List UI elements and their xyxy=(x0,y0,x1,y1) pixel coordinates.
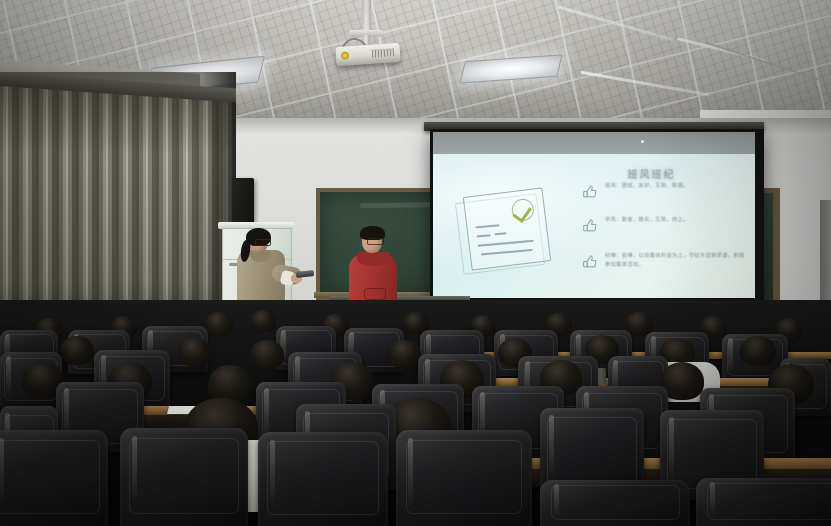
document-line xyxy=(478,240,534,247)
seat[interactable] xyxy=(696,478,831,526)
document-line xyxy=(481,249,533,256)
seat[interactable] xyxy=(120,428,248,526)
student-head xyxy=(60,336,94,365)
slide-bullet: 学风：勤奋、踏实、互助、向上。 xyxy=(581,216,689,233)
checkmark-icon xyxy=(511,198,536,223)
student-head xyxy=(740,336,776,366)
seat[interactable] xyxy=(396,430,532,526)
projector-vent xyxy=(372,48,395,58)
thumbs-up-icon xyxy=(581,182,599,199)
seat[interactable] xyxy=(540,480,690,526)
student-head xyxy=(205,312,233,336)
slide-bullet-text: 纪律：自律，以班集体利益为上，守纪不迟到早退，积极参加集体活动。 xyxy=(605,252,745,270)
slide-bullet-text: 班风：团结、友好、互助、和谐。 xyxy=(605,182,689,191)
document-line xyxy=(477,234,491,237)
glasses-icon xyxy=(367,238,384,245)
student-head xyxy=(388,340,421,368)
document-line xyxy=(475,224,499,228)
slide-bullet: 班风：团结、友好、互助、和谐。 xyxy=(581,182,689,199)
document-line xyxy=(494,232,506,235)
hoodie-pocket xyxy=(364,288,386,300)
projected-slide: 班风班纪 班风：团结、友好、互助、和谐。 xyxy=(433,154,755,298)
student-head xyxy=(208,365,252,403)
screen-blank-area xyxy=(433,132,755,154)
wall-speaker xyxy=(232,178,254,226)
slide-bullet: 纪律：自律，以班集体利益为上，守纪不迟到早退，积极参加集体活动。 xyxy=(581,252,745,270)
man-hood xyxy=(357,252,389,266)
slide-bullet-text: 学风：勤奋、踏实、互助、向上。 xyxy=(605,216,689,225)
student-head xyxy=(178,338,211,366)
projector-mount-pipe xyxy=(362,0,371,34)
student-head xyxy=(250,310,276,333)
glasses-icon xyxy=(255,239,271,246)
seat[interactable] xyxy=(0,430,108,526)
student-head xyxy=(250,340,284,369)
projector-lens xyxy=(341,51,350,60)
thumbs-up-icon xyxy=(581,252,599,269)
seat[interactable] xyxy=(258,432,388,526)
slide-checklist-graphic xyxy=(465,192,551,268)
thumbs-up-icon xyxy=(581,216,599,233)
slide-title: 班风班纪 xyxy=(433,166,755,181)
document-front-sheet xyxy=(463,187,551,270)
classroom-photo: 班风班纪 班风：团结、友好、互助、和谐。 xyxy=(0,0,831,526)
screen-cursor-dot xyxy=(641,140,644,143)
